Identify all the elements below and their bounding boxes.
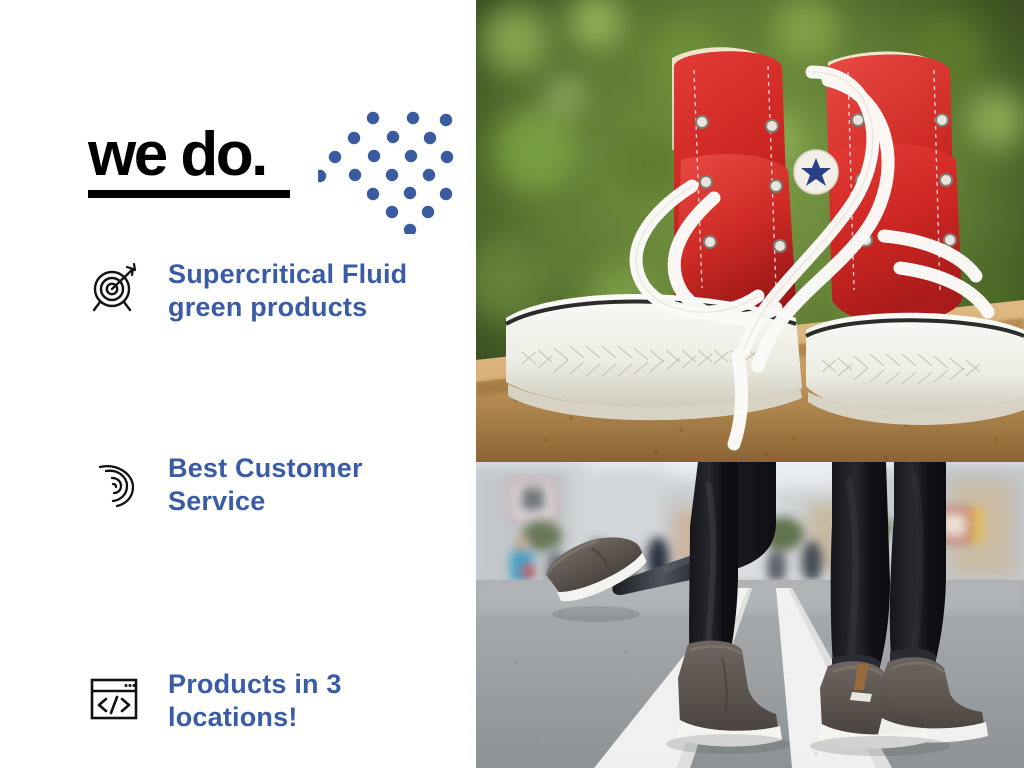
red-sneakers-photo — [476, 0, 1024, 462]
feature-item-best-customer-service: Best Customer Service — [86, 452, 466, 518]
feature-label-products-in-3-locations: Products in 3 locations! — [144, 668, 466, 734]
feature-item-products-in-3-locations: Products in 3 locations! — [86, 668, 466, 734]
feature-item-supercritical-fluid: Supercritical Fluid green products — [86, 258, 466, 324]
feature-label-best-customer-service: Best Customer Service — [144, 452, 466, 518]
sound-waves-icon — [86, 456, 144, 514]
code-window-icon — [86, 672, 144, 730]
street-crosswalk-photo — [476, 462, 1024, 768]
left-content-panel: we do. — [0, 0, 476, 768]
slide-root: we do. — [0, 0, 1024, 768]
feature-list: Supercritical Fluid green products — [0, 0, 476, 768]
target-arrow-icon — [86, 262, 144, 320]
feature-label-supercritical-fluid: Supercritical Fluid green products — [144, 258, 466, 324]
photo-column — [476, 0, 1024, 768]
